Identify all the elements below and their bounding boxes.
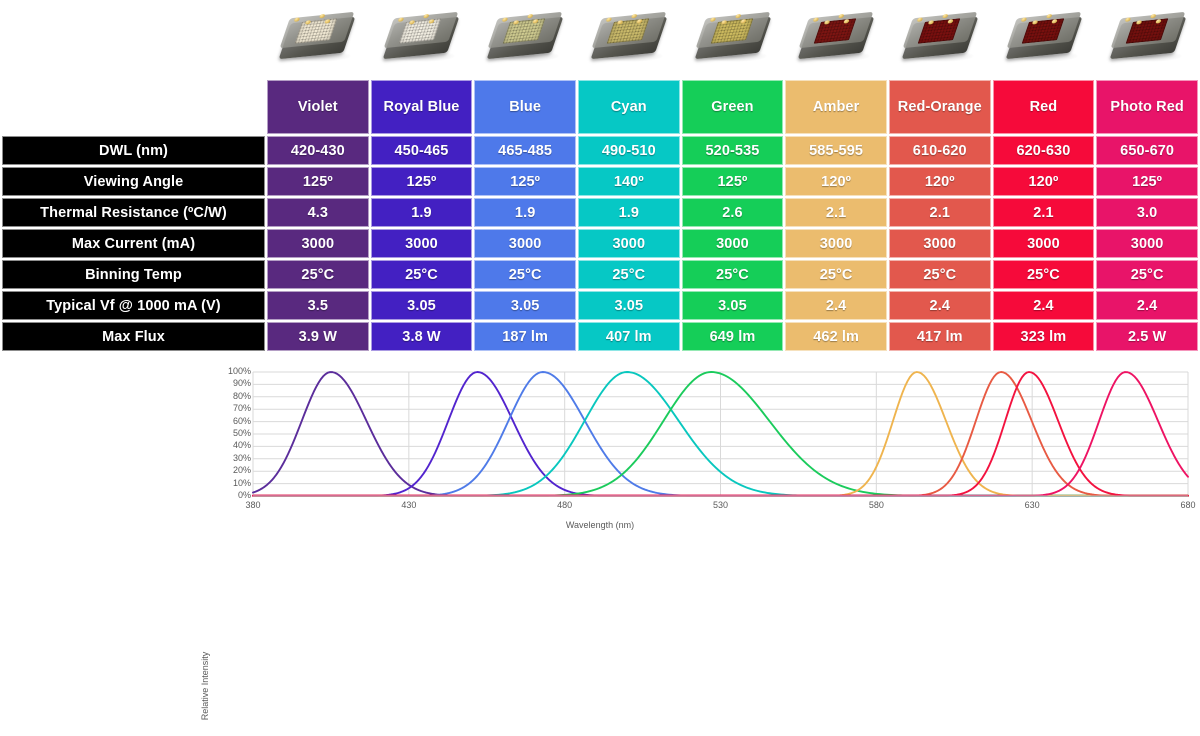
table-cell: 25°C xyxy=(993,260,1095,289)
column-header-blue: Blue xyxy=(474,80,576,134)
column-header-red-orange: Red-Orange xyxy=(889,80,991,134)
table-cell: 25°C xyxy=(785,260,887,289)
column-header-cyan: Cyan xyxy=(578,80,680,134)
table-cell: 407 lm xyxy=(578,322,680,351)
table-cell: 3000 xyxy=(474,229,576,258)
table-cell: 3000 xyxy=(785,229,887,258)
led-photo-cell xyxy=(681,0,785,78)
table-cell: 3.0 xyxy=(1096,198,1198,227)
table-cell: 2.5 W xyxy=(1096,322,1198,351)
table-cell: 25°C xyxy=(682,260,784,289)
row-label: Viewing Angle xyxy=(2,167,265,196)
table-cell: 417 lm xyxy=(889,322,991,351)
table-cell: 140º xyxy=(578,167,680,196)
table-cell: 520-535 xyxy=(682,136,784,165)
table-header-row: VioletRoyal BlueBlueCyanGreenAmberRed-Or… xyxy=(2,80,1198,134)
table-cell: 2.4 xyxy=(1096,291,1198,320)
table-cell: 2.6 xyxy=(682,198,784,227)
table-cell: 125º xyxy=(1096,167,1198,196)
table-head: VioletRoyal BlueBlueCyanGreenAmberRed-Or… xyxy=(2,80,1198,134)
x-tick-label: 630 xyxy=(1025,500,1040,510)
table-cell: 2.4 xyxy=(889,291,991,320)
x-tick-label: 480 xyxy=(557,500,572,510)
table-cell: 2.4 xyxy=(785,291,887,320)
column-header-violet: Violet xyxy=(267,80,369,134)
row-label: Max Current (mA) xyxy=(2,229,265,258)
table-cell: 2.1 xyxy=(993,198,1095,227)
table-cell: 3.05 xyxy=(371,291,473,320)
chart-y-axis-label: Relative Intensity xyxy=(200,636,214,736)
spec-table: VioletRoyal BlueBlueCyanGreenAmberRed-Or… xyxy=(0,78,1200,353)
led-photo-cell xyxy=(265,0,369,78)
column-header-royal-blue: Royal Blue xyxy=(371,80,473,134)
column-header-amber: Amber xyxy=(785,80,887,134)
column-header-green: Green xyxy=(682,80,784,134)
led-package-photo xyxy=(1111,6,1185,68)
led-package-photo xyxy=(280,6,354,68)
led-specification-table: VioletRoyal BlueBlueCyanGreenAmberRed-Or… xyxy=(0,78,1200,343)
led-photo-cell xyxy=(888,0,992,78)
x-tick-label: 530 xyxy=(713,500,728,510)
table-cell: 125º xyxy=(371,167,473,196)
table-row: Thermal Resistance (ºC/W)4.31.91.91.92.6… xyxy=(2,198,1198,227)
led-photo-cell xyxy=(369,0,473,78)
led-package-photo xyxy=(903,6,977,68)
column-header-photo-red: Photo Red xyxy=(1096,80,1198,134)
table-row: Max Flux3.9 W3.8 W187 lm407 lm649 lm462 … xyxy=(2,322,1198,351)
x-tick-label: 580 xyxy=(869,500,884,510)
table-cell: 465-485 xyxy=(474,136,576,165)
row-label: Binning Temp xyxy=(2,260,265,289)
table-body: DWL (nm)420-430450-465465-485490-510520-… xyxy=(2,136,1198,351)
table-cell: 125º xyxy=(267,167,369,196)
table-cell: 25°C xyxy=(1096,260,1198,289)
table-cell: 1.9 xyxy=(474,198,576,227)
table-cell: 2.4 xyxy=(993,291,1095,320)
chart-x-axis-label: Wavelength (nm) xyxy=(0,520,1200,530)
table-cell: 650-670 xyxy=(1096,136,1198,165)
chart-x-axis-ticks: 380430480530580630680 xyxy=(0,348,1200,537)
table-cell: 3000 xyxy=(993,229,1095,258)
table-cell: 25°C xyxy=(889,260,991,289)
table-row: Max Current (mA)300030003000300030003000… xyxy=(2,229,1198,258)
table-cell: 620-630 xyxy=(993,136,1095,165)
table-cell: 3.05 xyxy=(578,291,680,320)
led-package-photo xyxy=(696,6,770,68)
table-cell: 125º xyxy=(682,167,784,196)
table-cell: 462 lm xyxy=(785,322,887,351)
table-cell: 450-465 xyxy=(371,136,473,165)
row-label: Thermal Resistance (ºC/W) xyxy=(2,198,265,227)
led-photo-cell xyxy=(577,0,681,78)
table-cell: 120º xyxy=(785,167,887,196)
table-cell: 25°C xyxy=(267,260,369,289)
table-row: Typical Vf @ 1000 mA (V)3.53.053.053.053… xyxy=(2,291,1198,320)
row-label: Typical Vf @ 1000 mA (V) xyxy=(2,291,265,320)
table-row: Binning Temp25°C25°C25°C25°C25°C25°C25°C… xyxy=(2,260,1198,289)
table-cell: 120º xyxy=(993,167,1095,196)
led-photo-cell xyxy=(784,0,888,78)
table-cell: 187 lm xyxy=(474,322,576,351)
table-cell: 3.5 xyxy=(267,291,369,320)
led-package-photo xyxy=(592,6,666,68)
table-cell: 610-620 xyxy=(889,136,991,165)
table-cell: 420-430 xyxy=(267,136,369,165)
led-package-photo xyxy=(1007,6,1081,68)
row-label: Max Flux xyxy=(2,322,265,351)
led-product-image-strip xyxy=(265,0,1200,78)
led-package-photo xyxy=(799,6,873,68)
table-cell: 2.1 xyxy=(889,198,991,227)
table-cell: 3000 xyxy=(371,229,473,258)
row-label: DWL (nm) xyxy=(2,136,265,165)
table-cell: 120º xyxy=(889,167,991,196)
led-package-photo xyxy=(384,6,458,68)
table-cell: 4.3 xyxy=(267,198,369,227)
column-header-red: Red xyxy=(993,80,1095,134)
table-cell: 3.05 xyxy=(682,291,784,320)
x-tick-label: 430 xyxy=(401,500,416,510)
table-cell: 1.9 xyxy=(578,198,680,227)
table-cell: 3.8 W xyxy=(371,322,473,351)
table-cell: 3000 xyxy=(1096,229,1198,258)
table-cell: 3000 xyxy=(267,229,369,258)
table-cell: 3.9 W xyxy=(267,322,369,351)
led-photo-cell xyxy=(992,0,1096,78)
led-photo-cell xyxy=(1096,0,1200,78)
table-row: Viewing Angle125º125º125º140º125º120º120… xyxy=(2,167,1198,196)
table-cell: 25°C xyxy=(578,260,680,289)
table-cell: 3000 xyxy=(578,229,680,258)
table-cell: 3000 xyxy=(682,229,784,258)
spectral-power-distribution-chart: Relative Intensity 0%10%20%30%40%50%60%7… xyxy=(0,348,1200,537)
table-cell: 490-510 xyxy=(578,136,680,165)
table-cell: 25°C xyxy=(474,260,576,289)
x-tick-label: 680 xyxy=(1180,500,1195,510)
table-row: DWL (nm)420-430450-465465-485490-510520-… xyxy=(2,136,1198,165)
table-cell: 3000 xyxy=(889,229,991,258)
table-cell: 585-595 xyxy=(785,136,887,165)
table-cell: 323 lm xyxy=(993,322,1095,351)
table-cell: 25°C xyxy=(371,260,473,289)
table-cell: 1.9 xyxy=(371,198,473,227)
table-cell: 649 lm xyxy=(682,322,784,351)
led-package-photo xyxy=(488,6,562,68)
table-corner-blank xyxy=(2,80,265,134)
table-cell: 3.05 xyxy=(474,291,576,320)
led-photo-cell xyxy=(473,0,577,78)
table-cell: 2.1 xyxy=(785,198,887,227)
x-tick-label: 380 xyxy=(245,500,260,510)
table-cell: 125º xyxy=(474,167,576,196)
